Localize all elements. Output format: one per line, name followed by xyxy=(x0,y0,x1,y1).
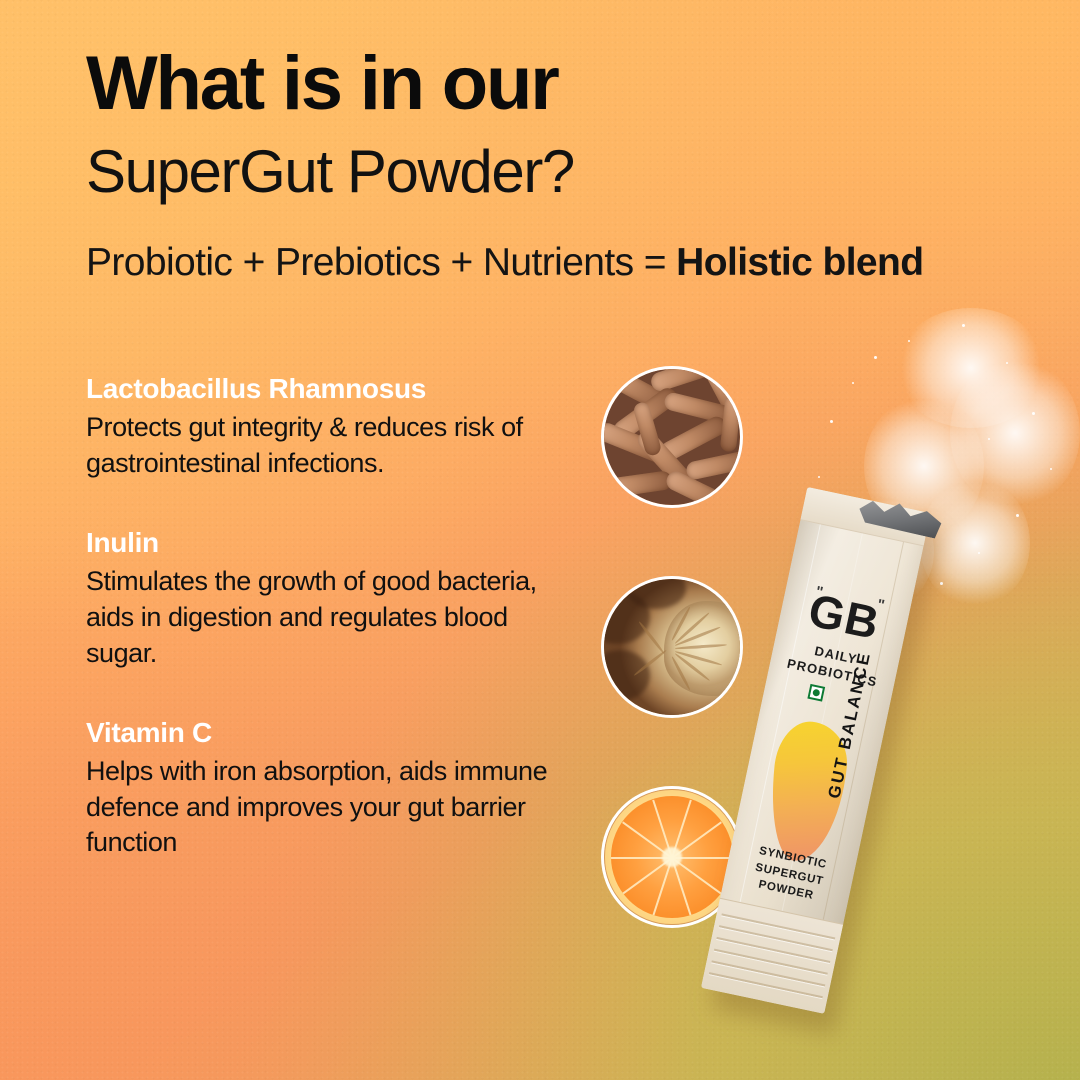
product-infographic-poster: What is in our SuperGut Powder? Probioti… xyxy=(0,0,1080,1080)
ingredient-list: Lactobacillus Rhamnosus Protects gut int… xyxy=(86,372,556,861)
list-item: Lactobacillus Rhamnosus Protects gut int… xyxy=(86,372,556,482)
title-line-2: SuperGut Powder? xyxy=(86,142,786,202)
ingredient-name: Vitamin C xyxy=(86,716,556,749)
sachet-body: " " GB DAILY PROBIOTICS GUT BALANCE SYNB… xyxy=(701,487,931,1014)
product-footer-text: SYNBIOTIC SUPERGUT POWDER xyxy=(723,837,857,912)
page-title: What is in our SuperGut Powder? xyxy=(86,46,786,202)
ingredient-description: Stimulates the growth of good bacteria, … xyxy=(86,564,556,672)
veg-dot-icon xyxy=(812,689,820,697)
formula-subtitle: Probiotic + Prebiotics + Nutrients = Hol… xyxy=(86,241,923,285)
bacteria-rods-photo xyxy=(601,366,743,508)
chicory-root-photo xyxy=(601,576,743,718)
formula-normal-part: Probiotic + Prebiotics + Nutrients = xyxy=(86,241,676,284)
ingredient-description: Helps with iron absorption, aids immune … xyxy=(86,754,556,862)
list-item: Vitamin C Helps with iron absorption, ai… xyxy=(86,716,556,862)
green-vegetarian-mark xyxy=(807,684,825,702)
formula-bold-part: Holistic blend xyxy=(676,241,923,284)
ingredient-description: Protects gut integrity & reduces risk of… xyxy=(86,410,556,482)
list-item: Inulin Stimulates the growth of good bac… xyxy=(86,526,556,672)
ingredient-name: Inulin xyxy=(86,526,556,559)
product-sachet: " " GB DAILY PROBIOTICS GUT BALANCE SYNB… xyxy=(701,487,931,1014)
title-line-1: What is in our xyxy=(86,46,786,122)
ingredient-name: Lactobacillus Rhamnosus xyxy=(86,372,556,405)
